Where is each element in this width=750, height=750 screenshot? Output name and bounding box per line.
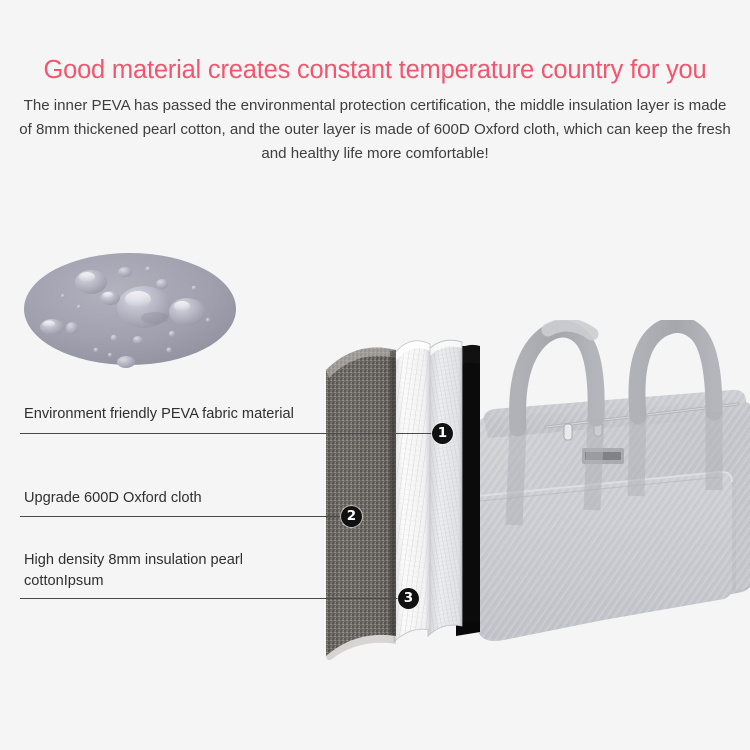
callout-2-leader-line	[20, 516, 345, 517]
callout-1-badge: 1	[432, 423, 453, 444]
insulated-tote-bag-icon	[470, 320, 750, 655]
infographic-page: Good material creates constant temperatu…	[0, 0, 750, 750]
callout-1-label: Environment friendly PEVA fabric materia…	[24, 404, 294, 425]
water-repellency-illustration	[22, 250, 238, 368]
callout-3: High density 8mm insulation pearl cotton…	[0, 550, 430, 612]
droplets-oval-icon	[22, 250, 238, 368]
callout-3-leader-line	[20, 598, 413, 599]
callout-2: Upgrade 600D Oxford cloth 2	[0, 488, 380, 528]
callout-3-label: High density 8mm insulation pearl cotton…	[24, 550, 243, 592]
page-subcopy: The inner PEVA has passed the environmen…	[17, 94, 733, 166]
callout-2-badge: 2	[341, 506, 362, 527]
callout-1: Environment friendly PEVA fabric materia…	[0, 404, 470, 444]
product-bag-illustration	[470, 320, 750, 655]
layer-peva-inner	[428, 340, 462, 636]
callout-3-badge: 3	[398, 588, 419, 609]
callout-1-leader-line	[20, 433, 437, 434]
callout-2-label: Upgrade 600D Oxford cloth	[24, 488, 202, 509]
zipper-pull-left	[564, 424, 572, 440]
page-headline: Good material creates constant temperatu…	[0, 56, 750, 84]
